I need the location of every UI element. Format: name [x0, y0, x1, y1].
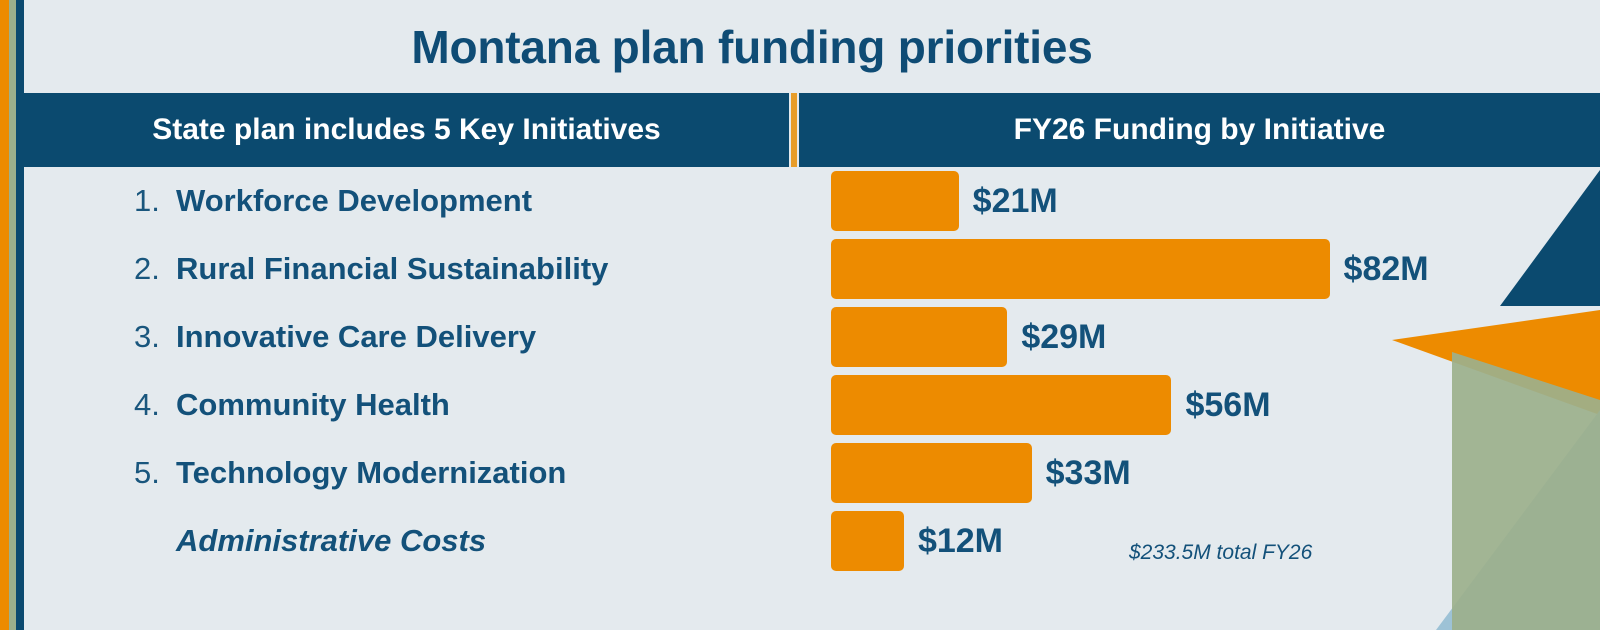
funding-bar-chart: $21M $82M $29M $56M $33M $12M $233.5M — [789, 167, 1600, 630]
bar-row: $21M — [789, 167, 1600, 235]
list-item-label: Innovative Care Delivery — [176, 319, 536, 355]
bar — [831, 511, 904, 571]
body-area: 1. Workforce Development 2. Rural Financ… — [24, 167, 1600, 630]
bar — [831, 171, 959, 231]
list-item-number: 3. — [134, 319, 176, 355]
bar — [831, 239, 1330, 299]
bar — [831, 443, 1032, 503]
bar-value-label: $33M — [1046, 454, 1131, 493]
list-item-label: Rural Financial Sustainability — [176, 251, 608, 287]
bar-value-label: $82M — [1344, 250, 1429, 289]
total-funding-note: $233.5M total FY26 — [1129, 541, 1312, 565]
page-title: Montana plan funding priorities — [411, 20, 1092, 74]
list-item-number: 2. — [134, 251, 176, 287]
left-edge-stripe-sage — [9, 0, 16, 630]
list-item-administrative-costs: Administrative Costs — [24, 507, 789, 575]
bar — [831, 307, 1007, 367]
bar-value-label: $12M — [918, 522, 1003, 561]
bar — [831, 375, 1171, 435]
list-item-label: Technology Modernization — [176, 455, 566, 491]
left-edge-stripe-orange — [0, 0, 9, 630]
list-item-number: 4. — [134, 387, 176, 423]
bar-row: $29M — [789, 303, 1600, 371]
header-right-label: FY26 Funding by Initiative — [1014, 113, 1386, 147]
bar-row: $33M — [789, 439, 1600, 507]
list-item-number: 1. — [134, 183, 176, 219]
list-item: 1. Workforce Development — [24, 167, 789, 235]
initiative-list: 1. Workforce Development 2. Rural Financ… — [24, 167, 789, 575]
list-item-label: Workforce Development — [176, 183, 532, 219]
list-item: 2. Rural Financial Sustainability — [24, 235, 789, 303]
list-item: 4. Community Health — [24, 371, 789, 439]
bar-value-label: $29M — [1021, 318, 1106, 357]
list-item-number: 5. — [134, 455, 176, 491]
list-item-label: Community Health — [176, 387, 450, 423]
title-band: Montana plan funding priorities — [24, 0, 1600, 93]
bar-row: $12M $233.5M total FY26 — [789, 507, 1600, 575]
bar-value-label: $56M — [1185, 386, 1270, 425]
header-right: FY26 Funding by Initiative — [799, 93, 1600, 167]
list-item: 5. Technology Modernization — [24, 439, 789, 507]
bar-value-label: $21M — [973, 182, 1058, 221]
left-edge-stripe-navy — [16, 0, 24, 630]
header-left: State plan includes 5 Key Initiatives — [24, 93, 789, 167]
header-left-label: State plan includes 5 Key Initiatives — [152, 113, 661, 147]
column-headers: State plan includes 5 Key Initiatives FY… — [24, 93, 1600, 167]
bar-row: $82M — [789, 235, 1600, 303]
slide-canvas: Montana plan funding priorities State pl… — [0, 0, 1600, 630]
list-item-label: Administrative Costs — [176, 523, 486, 559]
list-item: 3. Innovative Care Delivery — [24, 303, 789, 371]
header-divider — [789, 93, 799, 167]
bar-row: $56M — [789, 371, 1600, 439]
